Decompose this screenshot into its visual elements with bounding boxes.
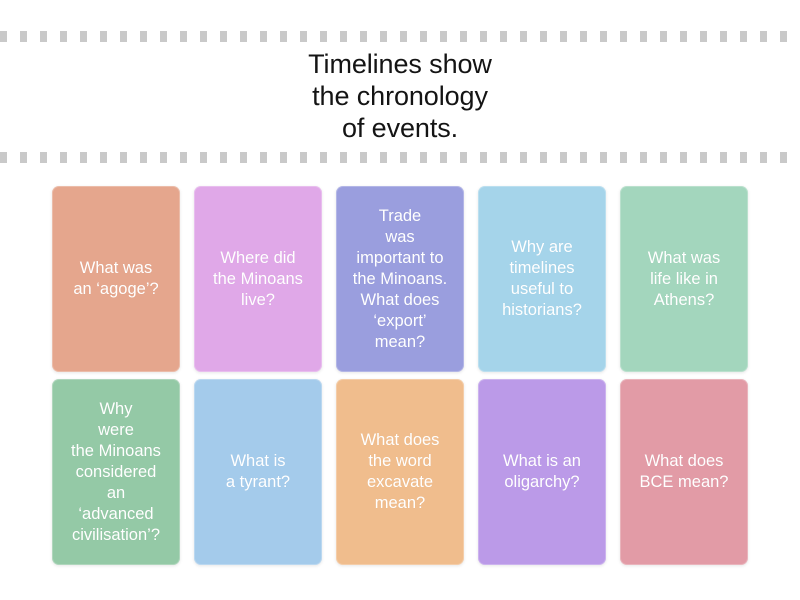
dashed-rule-bottom bbox=[0, 152, 800, 163]
header: Timelines show the chronology of events. bbox=[0, 48, 800, 148]
question-card-label: What does BCE mean? bbox=[640, 451, 729, 493]
dashed-rule-top bbox=[0, 31, 800, 42]
card-row-1: What was an ‘agoge’? Where did the Minoa… bbox=[52, 186, 749, 372]
page-title: Timelines show the chronology of events. bbox=[308, 48, 492, 144]
question-card-label: Why are timelines useful to historians? bbox=[502, 237, 582, 321]
question-card[interactable]: What is a tyrant? bbox=[194, 379, 322, 565]
question-card[interactable]: What was life like in Athens? bbox=[620, 186, 748, 372]
question-card[interactable]: Trade was important to the Minoans. What… bbox=[336, 186, 464, 372]
card-row-2: Why were the Minoans considered an ‘adva… bbox=[52, 379, 749, 565]
question-card-label: What was life like in Athens? bbox=[648, 248, 720, 311]
question-card[interactable]: Why were the Minoans considered an ‘adva… bbox=[52, 379, 180, 565]
question-card[interactable]: Why are timelines useful to historians? bbox=[478, 186, 606, 372]
question-card-label: What is a tyrant? bbox=[226, 451, 290, 493]
question-card-label: Where did the Minoans live? bbox=[213, 248, 303, 311]
activity-board: Timelines show the chronology of events.… bbox=[0, 0, 800, 600]
question-card[interactable]: What does BCE mean? bbox=[620, 379, 748, 565]
question-card[interactable]: What is an oligarchy? bbox=[478, 379, 606, 565]
question-card-label: What was an ‘agoge’? bbox=[73, 258, 158, 300]
question-card[interactable]: What does the word excavate mean? bbox=[336, 379, 464, 565]
question-card-grid: What was an ‘agoge’? Where did the Minoa… bbox=[52, 186, 749, 565]
question-card[interactable]: Where did the Minoans live? bbox=[194, 186, 322, 372]
question-card-label: What does the word excavate mean? bbox=[361, 430, 440, 514]
question-card-label: What is an oligarchy? bbox=[503, 451, 581, 493]
question-card-label: Trade was important to the Minoans. What… bbox=[353, 206, 447, 353]
question-card-label: Why were the Minoans considered an ‘adva… bbox=[71, 399, 161, 546]
question-card[interactable]: What was an ‘agoge’? bbox=[52, 186, 180, 372]
